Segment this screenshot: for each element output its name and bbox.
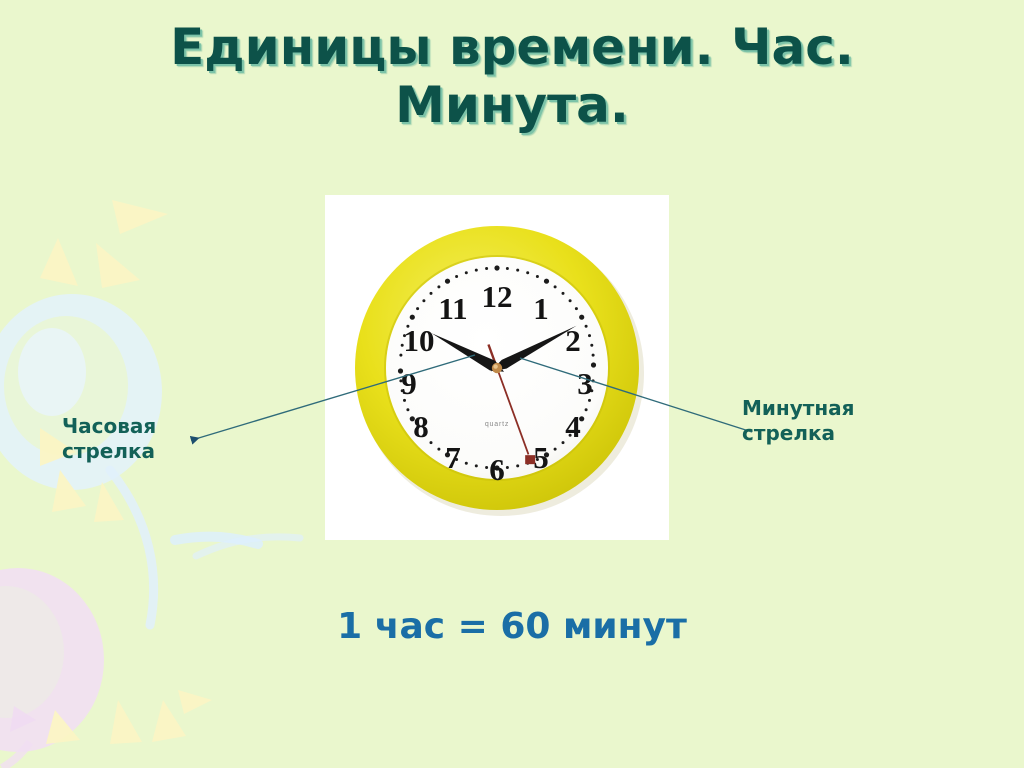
svg-text:6: 6 — [489, 452, 505, 487]
ray-sparks-icon — [40, 200, 212, 744]
svg-text:3: 3 — [577, 366, 593, 401]
svg-text:11: 11 — [438, 291, 467, 326]
svg-text:12: 12 — [482, 279, 513, 314]
callout-hour-hand-label: Часовая стрелка — [62, 414, 156, 464]
svg-text:10: 10 — [404, 323, 435, 358]
slide-canvas: Единицы времени. Час. Минута. — [0, 0, 1024, 768]
callout-minute-hand-label: Минутная стрелка — [742, 396, 855, 446]
clock-image: 12 1 2 3 4 5 6 7 8 9 10 11 quartz — [325, 195, 669, 540]
clock-brand-text: quartz — [485, 421, 509, 428]
blue-wisp-icon — [175, 537, 258, 544]
svg-text:4: 4 — [565, 409, 581, 444]
page-title: Единицы времени. Час. Минута. — [0, 18, 1024, 134]
svg-text:7: 7 — [445, 440, 461, 475]
svg-text:8: 8 — [413, 409, 429, 444]
formula-text: 1 час = 60 минут — [0, 605, 1024, 649]
svg-text:5: 5 — [533, 440, 549, 475]
svg-text:1: 1 — [533, 291, 549, 326]
analog-clock-icon: 12 1 2 3 4 5 6 7 8 9 10 11 quartz — [325, 195, 669, 540]
clock-pivot-highlight — [493, 364, 497, 368]
svg-text:2: 2 — [565, 323, 581, 358]
svg-text:9: 9 — [401, 366, 417, 401]
pink-balloon-icon — [0, 568, 104, 768]
